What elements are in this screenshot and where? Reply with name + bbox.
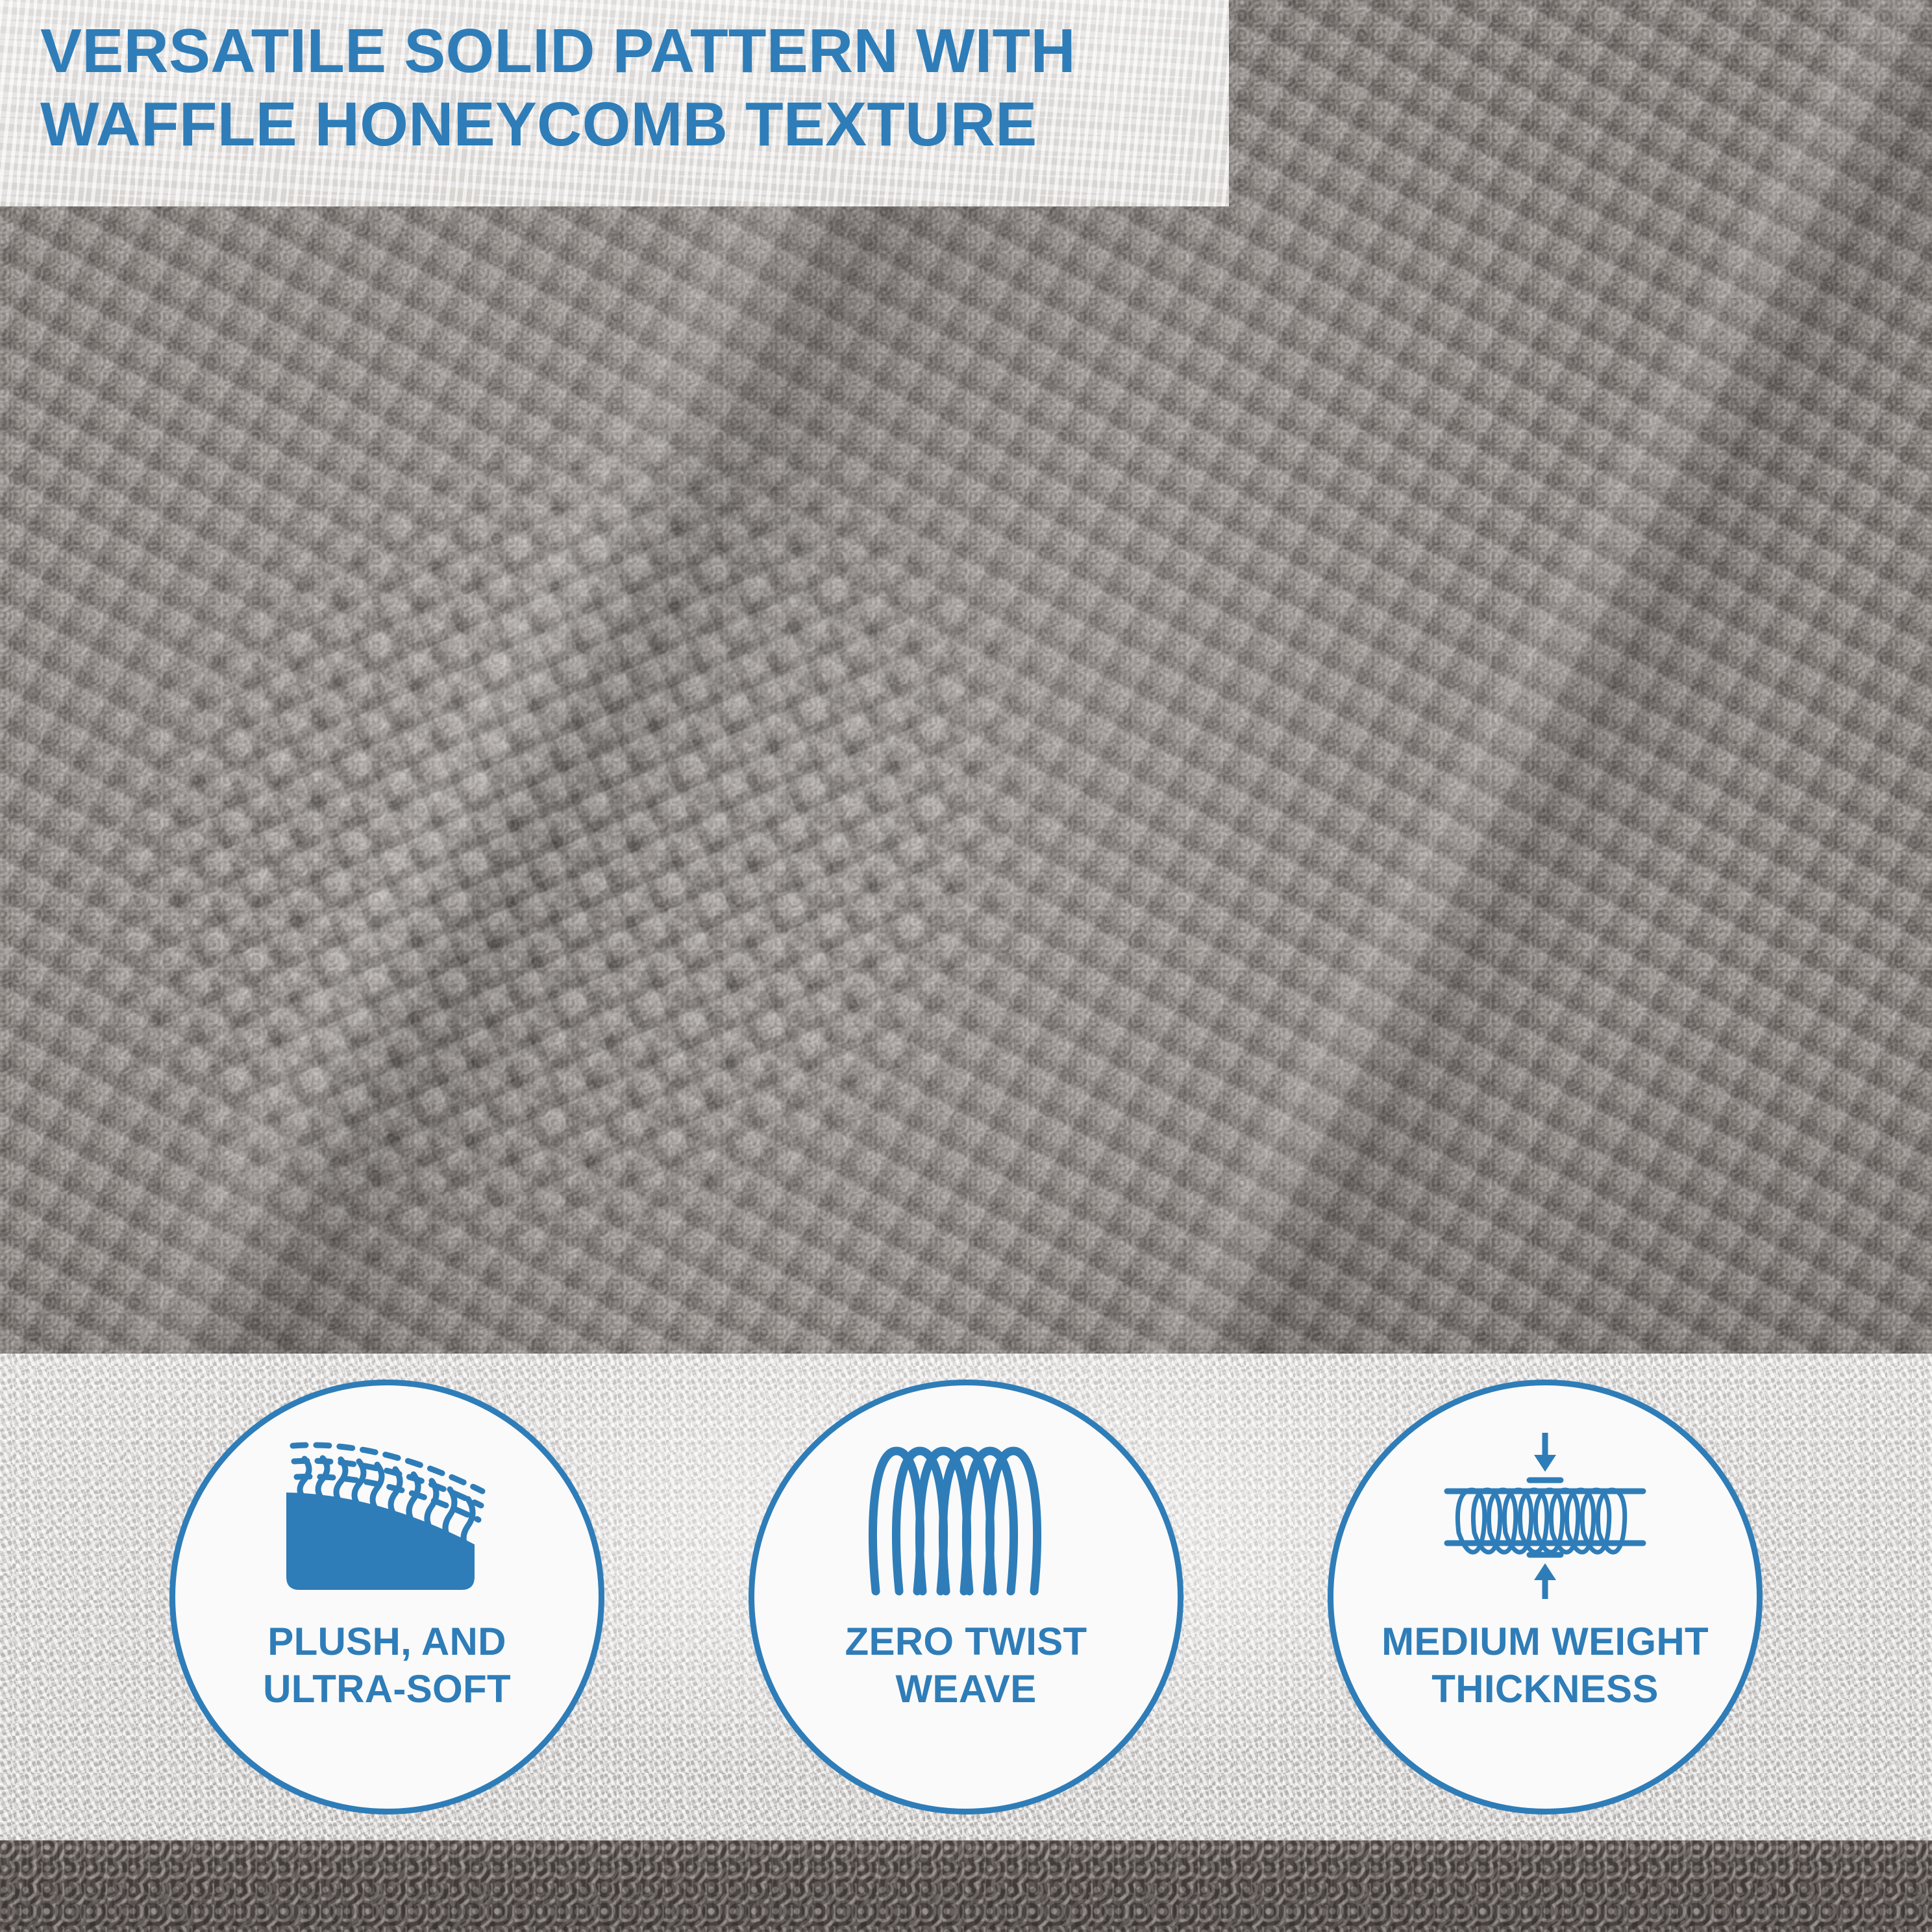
feature-label-plush: PLUSH, AND ULTRA-SOFT xyxy=(263,1618,511,1713)
feature-label-thickness: MEDIUM WEIGHT THICKNESS xyxy=(1381,1618,1709,1713)
feature-badge-thickness[interactable]: MEDIUM WEIGHT THICKNESS xyxy=(1328,1380,1763,1814)
zero-twist-loops-icon xyxy=(859,1426,1073,1601)
arrow-down-icon xyxy=(1534,1433,1556,1472)
headline-text: VERSATILE SOLID PATTERN WITH WAFFLE HONE… xyxy=(40,14,1076,162)
arrow-up-icon xyxy=(1534,1563,1556,1599)
feature-badge-plush[interactable]: PLUSH, AND ULTRA-SOFT xyxy=(169,1380,604,1814)
bottom-towel-strip xyxy=(0,1840,1932,1932)
feature-panel: PLUSH, AND ULTRA-SOFT ZERO TWIST xyxy=(0,1354,1932,1840)
infographic-canvas: VERSATILE SOLID PATTERN WITH WAFFLE HONE… xyxy=(0,0,1932,1932)
plush-fabric-icon xyxy=(280,1426,494,1601)
feature-label-zero-twist: ZERO TWIST WEAVE xyxy=(845,1618,1087,1713)
headline-banner: VERSATILE SOLID PATTERN WITH WAFFLE HONE… xyxy=(0,0,1229,206)
thickness-arrows-icon xyxy=(1438,1426,1652,1601)
feature-badge-zero-twist[interactable]: ZERO TWIST WEAVE xyxy=(749,1380,1183,1814)
